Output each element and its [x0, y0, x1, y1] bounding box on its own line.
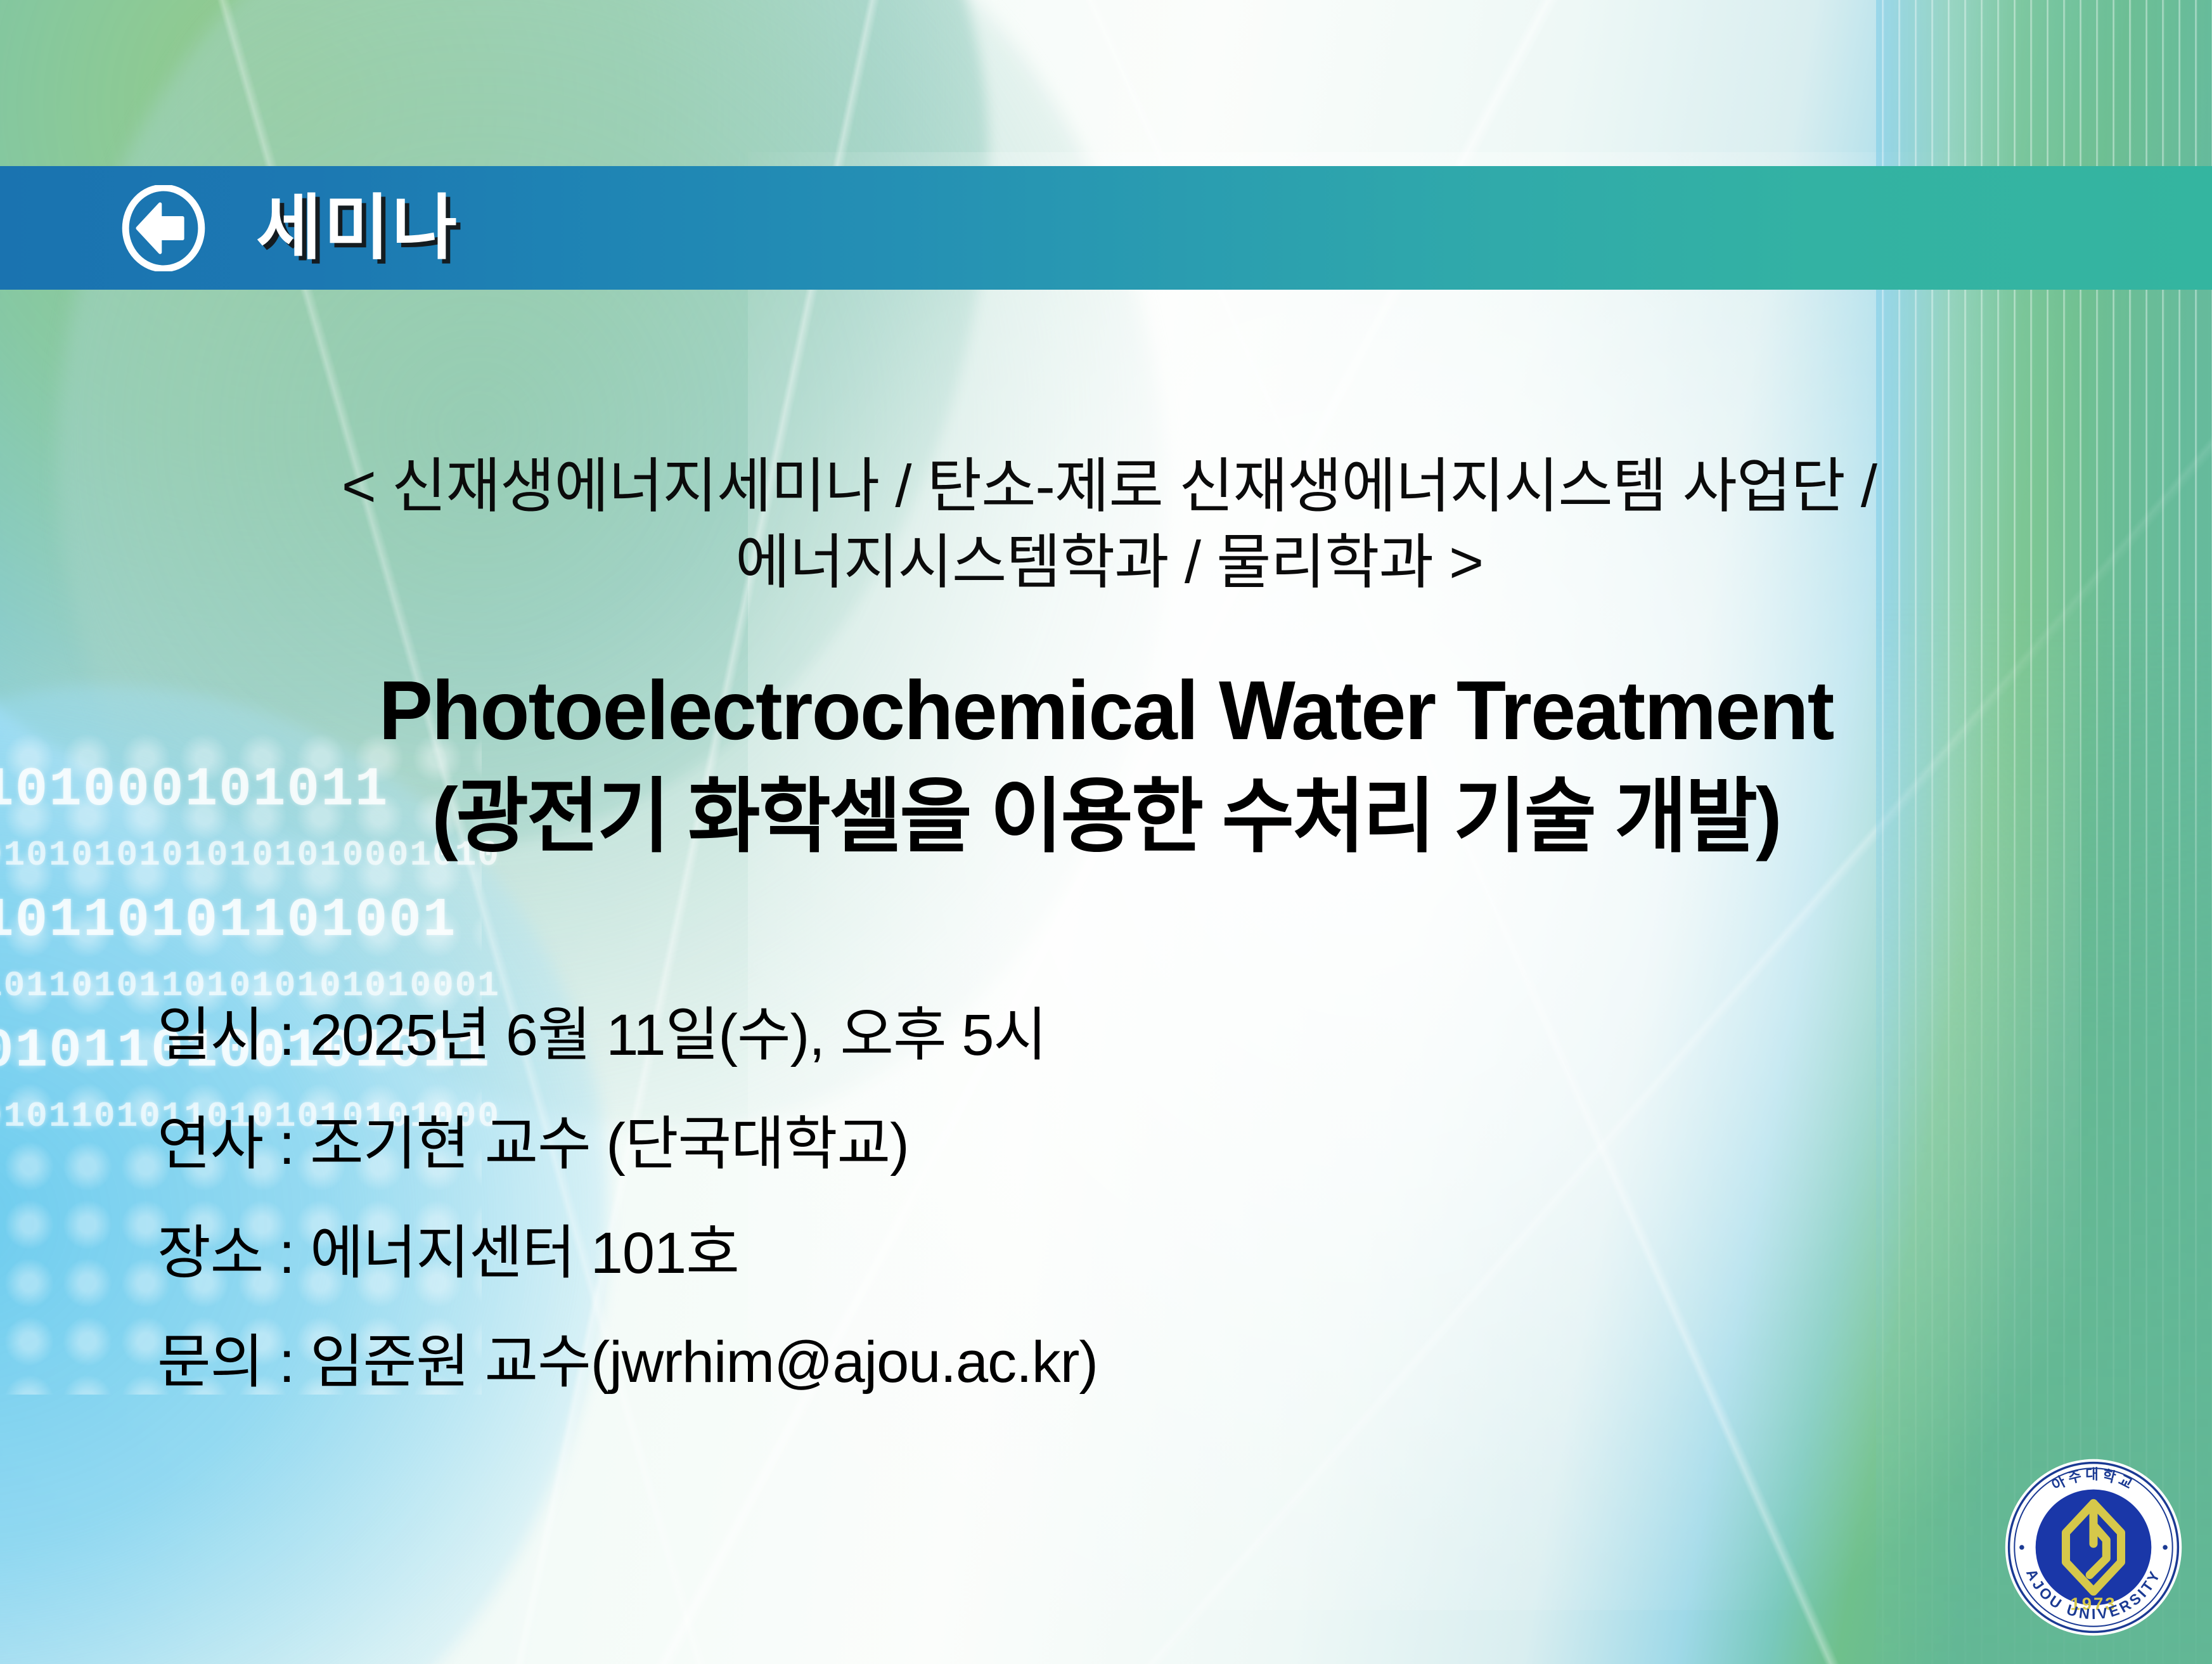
seminar-title-english: Photoelectrochemical Water Treatment	[379, 664, 1834, 757]
detail-speaker: 연사 : 조기현 교수 (단국대학교)	[157, 1090, 1098, 1199]
ajou-university-logo: 1973 아주대학교 AJOU UNIVERSITY	[2002, 1455, 2185, 1639]
affiliation-line-1: < 신재생에너지세미나 / 탄소-제로 신재생에너지시스템 사업단 /	[342, 453, 1877, 519]
logo-dot-right	[2163, 1545, 2168, 1550]
detail-contact: 문의 : 임준원 교수(jwrhim@ajou.ac.kr)	[157, 1308, 1098, 1417]
logo-dot-left	[2019, 1545, 2024, 1550]
seminar-poster: 101000101011 0101010101010101000101010 1…	[0, 0, 2212, 1664]
header-title: 세미나	[256, 193, 460, 264]
poster-body: < 신재생에너지세미나 / 탄소-제로 신재생에너지시스템 사업단 / 에너지시…	[0, 290, 2212, 1664]
seminar-title-korean: (광전기 화학셀을 이용한 수처리 기술 개발)	[113, 764, 2099, 870]
detail-location: 장소 : 에너지센터 101호	[157, 1199, 1098, 1308]
seminar-title: Photoelectrochemical Water Treatment (광전…	[113, 657, 2099, 870]
seminar-affiliation: < 신재생에너지세미나 / 탄소-제로 신재생에너지시스템 사업단 / 에너지시…	[127, 448, 2092, 600]
detail-datetime: 일시 : 2025년 6월 11일(수), 오후 5시	[157, 981, 1098, 1090]
affiliation-line-2: 에너지시스템학과 / 물리학과 >	[127, 524, 2092, 600]
circle-left-arrow-icon[interactable]	[120, 185, 207, 271]
seminar-details: 일시 : 2025년 6월 11일(수), 오후 5시 연사 : 조기현 교수 …	[157, 981, 1098, 1417]
header-band: 세미나	[0, 166, 2212, 290]
